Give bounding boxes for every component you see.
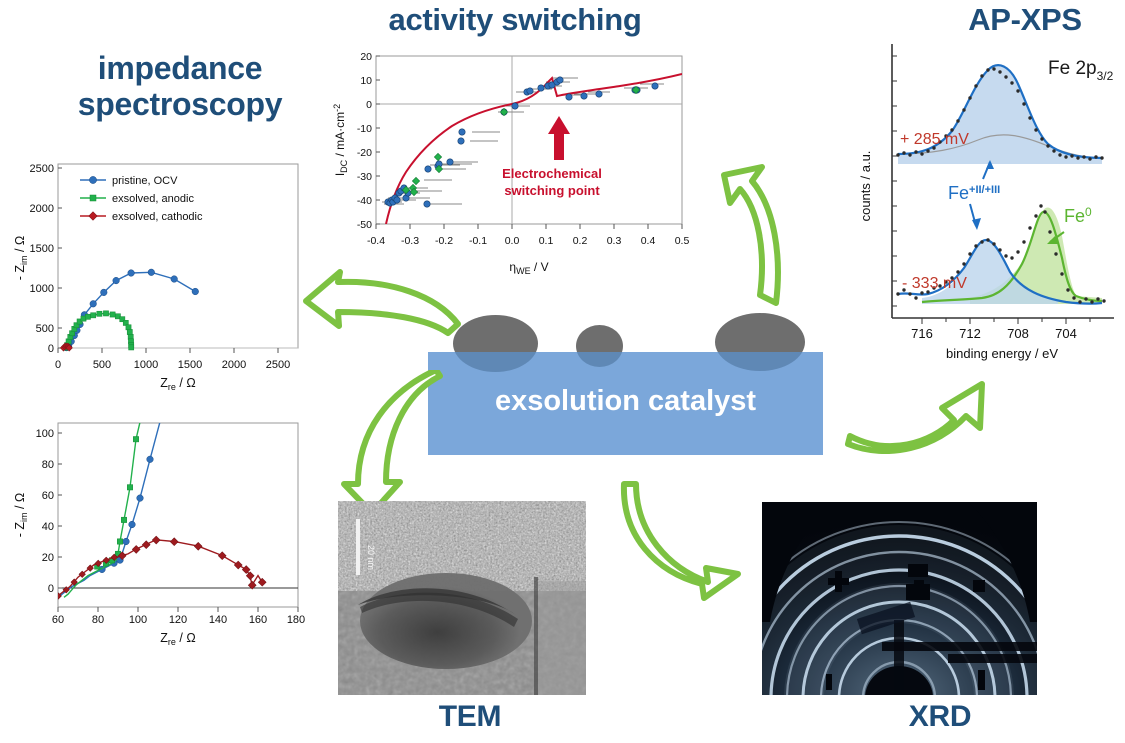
switching-point-label-line2: switching point [504, 183, 600, 198]
arrow-catalyst-to-apxps [832, 378, 1012, 488]
tick-y-1500: 1500 [30, 243, 54, 255]
atick-x-02: 0.2 [573, 235, 588, 247]
atick-y-20: 20 [360, 51, 372, 63]
panel-title-impedance: impedance spectroscopy [60, 50, 300, 122]
panel-title-tem: TEM [370, 700, 570, 734]
impedance-zoom-ylabel: - Zim / Ω [13, 493, 29, 538]
panel-title-activity: activity switching [335, 2, 695, 38]
atick-x-04: 0.4 [641, 235, 656, 247]
apxps-arrow-down-head-icon [972, 218, 981, 230]
ztick-x-80: 80 [92, 614, 104, 626]
impedance-full-xlabel: Zre / Ω [160, 376, 195, 390]
tick-x-0: 0 [55, 359, 61, 371]
tick-y-2000: 2000 [30, 203, 54, 215]
atick-y-10: 10 [360, 75, 372, 87]
ztick-y-60: 60 [42, 490, 54, 502]
plot-frame [58, 164, 298, 348]
tick-x-2000: 2000 [222, 359, 246, 371]
tick-y-0: 0 [48, 343, 54, 355]
apxps-tick-704: 704 [1055, 326, 1077, 341]
atick-x-01: 0.1 [539, 235, 554, 247]
catalyst-label: exsolution catalyst [428, 385, 823, 418]
apxps-tick-716: 716 [911, 326, 933, 341]
ztick-x-140: 140 [209, 614, 227, 626]
tick-y-2500: 2500 [30, 163, 54, 175]
legend-label-pristine: pristine, OCV [112, 175, 178, 187]
atick-x-00: 0.0 [505, 235, 520, 247]
ztick-x-180: 180 [287, 614, 305, 626]
apxps-svg: 716 712 708 704 binding energy / eV coun… [852, 36, 1122, 366]
activity-plot-frame [376, 56, 682, 224]
arrow-catalyst-to-activity [700, 145, 870, 335]
atick-y-0: 0 [366, 99, 372, 111]
ztick-x-120: 120 [169, 614, 187, 626]
apxps-fe-metallic-label: Fe0 [1064, 205, 1092, 226]
activity-svg: 20 10 0 -10 -20 -30 -40 -50 -0.4 -0.3 -0… [330, 38, 710, 278]
atick-y-m50: -50 [357, 219, 372, 231]
particle-embedded-2 [576, 352, 623, 367]
apxps-minus333-label: - 333 mV [902, 275, 967, 292]
ztick-x-60: 60 [52, 614, 64, 626]
legend-label-cathodic: exsolved, cathodic [112, 211, 203, 223]
tem-image-svg: 20 nm [338, 501, 586, 695]
activity-xlabel: ηWE / V [509, 260, 548, 276]
apxps-fe-oxidized-label: Fe+II/+III [948, 183, 1000, 203]
chart-impedance-nyquist-full: 2500 2000 1500 1000 500 0 0 500 1000 150… [8, 150, 308, 390]
tick-y-1000: 1000 [30, 283, 54, 295]
chart-impedance-nyquist-zoom: 100 80 60 40 20 0 60 80 100 120 140 160 … [8, 395, 308, 645]
activity-ylabel: IDC / mA·cm-2 [332, 104, 349, 176]
ztick-y-80: 80 [42, 459, 54, 471]
arrow-catalyst-to-xrd [600, 462, 780, 622]
atick-y-m10: -10 [357, 123, 372, 135]
impedance-zoom-xlabel: Zre / Ω [160, 631, 195, 645]
atick-y-m20: -20 [357, 147, 372, 159]
ztick-y-0: 0 [48, 583, 54, 595]
tick-x-500: 500 [93, 359, 111, 371]
apxps-plus285-label: + 285 mV [900, 131, 969, 148]
apxps-fe2p-label: Fe 2p3/2 [1048, 58, 1114, 83]
apxps-tick-712: 712 [959, 326, 981, 341]
tick-x-1500: 1500 [178, 359, 202, 371]
switching-point-label-line1: Electrochemical [502, 166, 602, 181]
ztick-y-100: 100 [36, 428, 54, 440]
apxps-tick-708: 708 [1007, 326, 1029, 341]
atick-x-m03: -0.3 [401, 235, 419, 247]
chart-ap-xps: 716 712 708 704 binding energy / eV coun… [852, 36, 1122, 366]
impedance-zoom-svg: 100 80 60 40 20 0 60 80 100 120 140 160 … [8, 395, 308, 645]
tick-x-1000: 1000 [134, 359, 158, 371]
atick-x-m01: -0.1 [469, 235, 487, 247]
atick-x-05: 0.5 [675, 235, 690, 247]
tem-image: 20 nm [338, 501, 586, 695]
atick-x-m02: -0.2 [435, 235, 453, 247]
atick-x-03: 0.3 [607, 235, 622, 247]
arrow-activity-to-impedance [280, 255, 470, 365]
atick-x-m04: -0.4 [367, 235, 385, 247]
tem-scalebar-label: 20 nm [366, 545, 376, 570]
ztick-y-40: 40 [42, 521, 54, 533]
chart-activity-switching: 20 10 0 -10 -20 -30 -40 -50 -0.4 -0.3 -0… [330, 38, 710, 278]
particle-embedded-3 [715, 352, 805, 371]
atick-y-m30: -30 [357, 171, 372, 183]
ztick-x-100: 100 [129, 614, 147, 626]
atick-y-m40: -40 [357, 195, 372, 207]
apxps-xlabel: binding energy / eV [946, 346, 1058, 361]
impedance-title-line2: spectroscopy [60, 86, 300, 122]
legend-label-anodic: exsolved, anodic [112, 193, 194, 205]
impedance-title-line1: impedance [60, 50, 300, 86]
arrow-catalyst-to-tem [300, 370, 460, 520]
impedance-full-ylabel: - Zim / Ω [13, 236, 29, 281]
xrd-image-svg [762, 502, 1037, 695]
panel-title-xrd: XRD [840, 700, 1040, 734]
tick-y-500: 500 [36, 323, 54, 335]
impedance-full-svg: 2500 2000 1500 1000 500 0 0 500 1000 150… [8, 150, 308, 390]
panel-title-apxps: AP-XPS [930, 2, 1120, 38]
ztick-x-160: 160 [249, 614, 267, 626]
xrd-image [762, 502, 1037, 695]
ztick-y-20: 20 [42, 552, 54, 564]
